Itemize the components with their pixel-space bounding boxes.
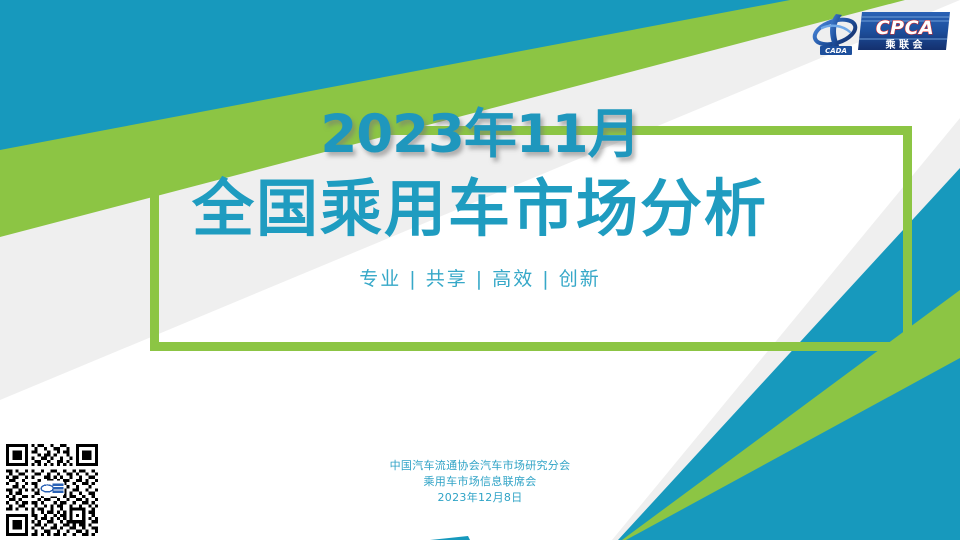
title-slide: CADA CPCA 乘 联 会 2023年11月 全国乘用车市场分析 专业 | … [0, 0, 960, 540]
cada-emblem-text: CADA [825, 47, 847, 55]
cpca-banner: CPCA 乘 联 会 [858, 12, 950, 51]
footer-block: 中国汽车流通协会汽车市场研究分会 乘用车市场信息联席会 2023年12月8日 [0, 458, 960, 506]
cpca-logo: CADA CPCA 乘 联 会 [812, 8, 950, 58]
cpca-banner-text: CPCA [876, 17, 935, 39]
qr-center-logo-icon [39, 480, 64, 496]
qr-code[interactable] [6, 444, 98, 536]
footer-line-organization: 中国汽车流通协会汽车市场研究分会 [0, 458, 960, 474]
cada-emblem-icon: CADA [812, 14, 858, 55]
cpca-banner-subtext: 乘 联 会 [885, 38, 923, 51]
green-content-frame [150, 126, 912, 351]
footer-line-date: 2023年12月8日 [0, 490, 960, 506]
footer-line-committee: 乘用车市场信息联席会 [0, 474, 960, 490]
